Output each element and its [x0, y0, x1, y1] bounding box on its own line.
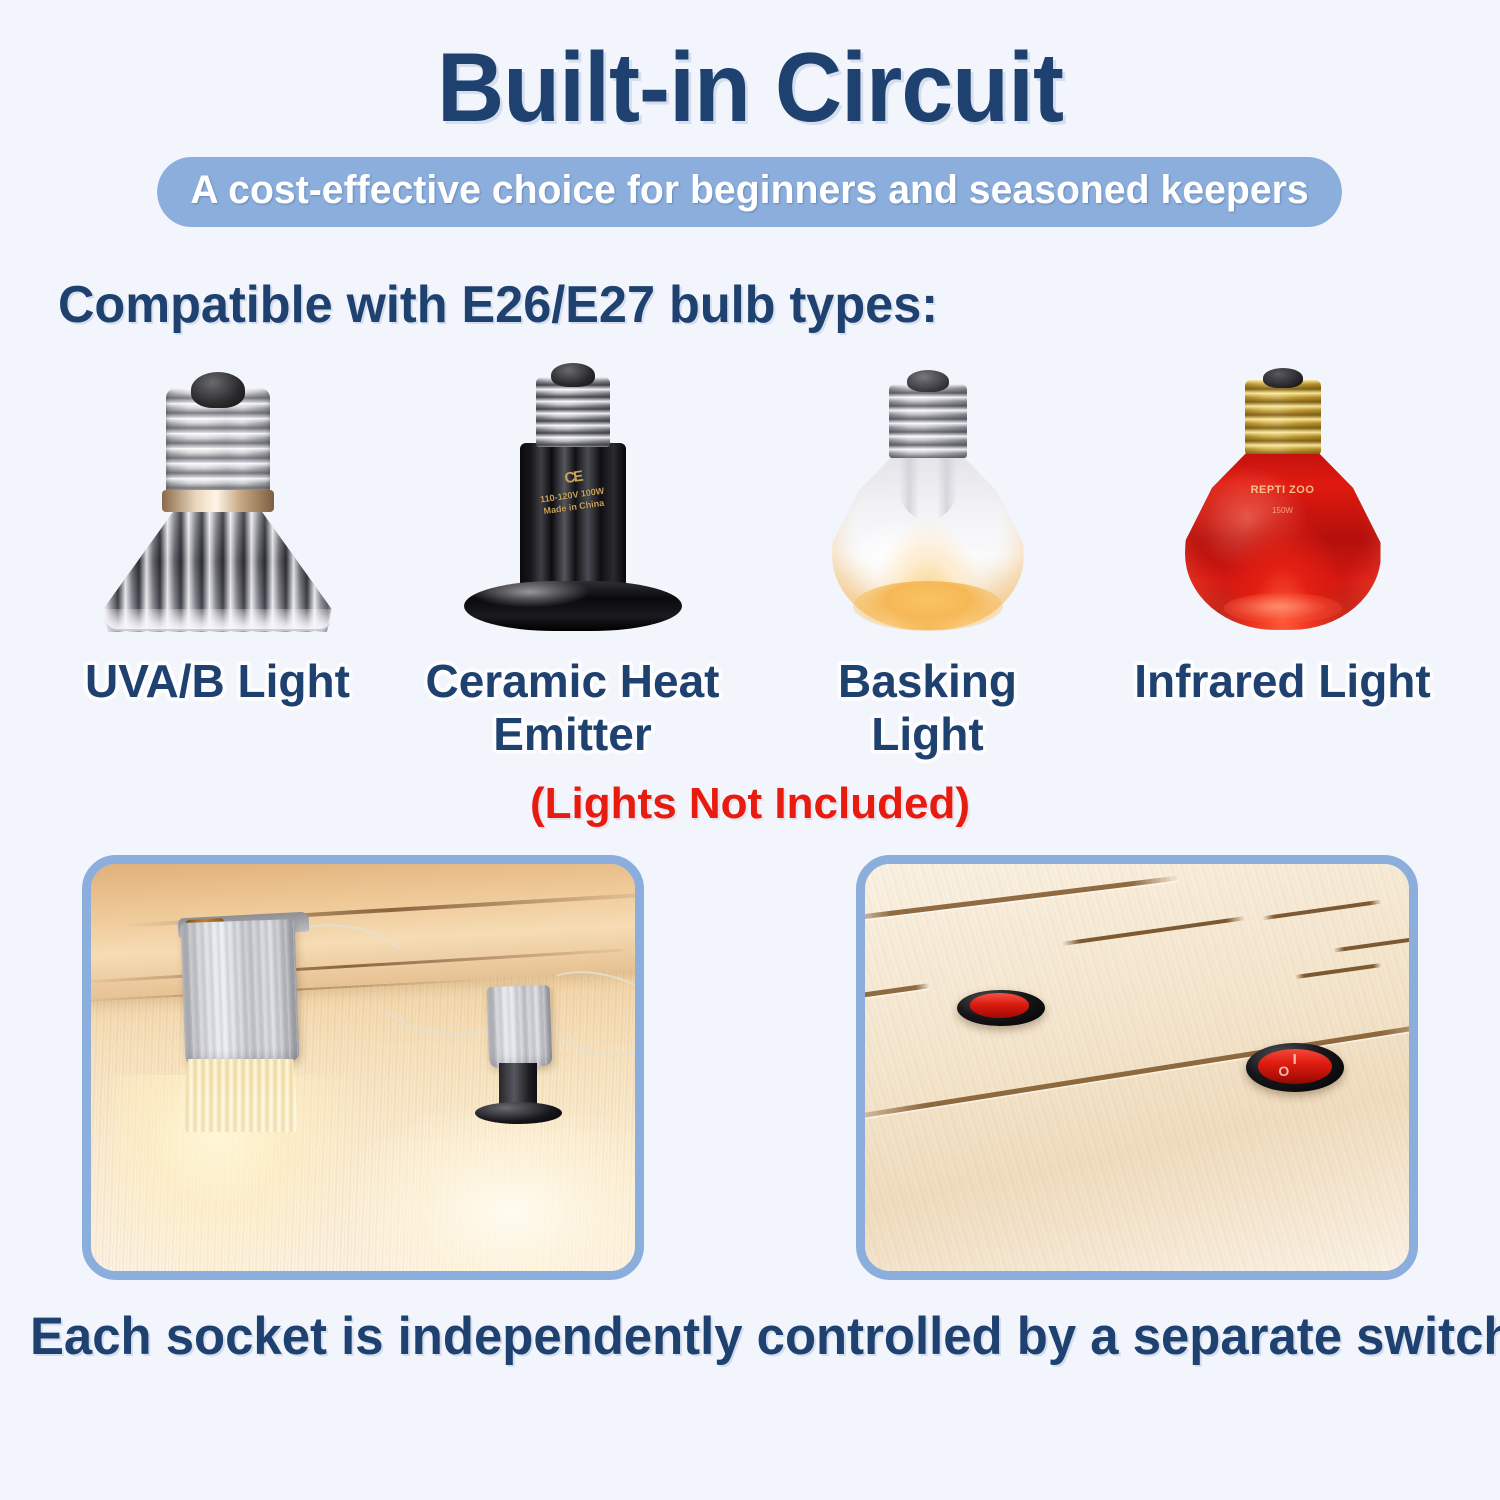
- lit-reflector-bulb: [183, 1059, 297, 1132]
- bulb-cell-ceramic: CE 110-120V 100W Made in China: [423, 351, 723, 631]
- lamp-socket: [487, 985, 552, 1069]
- floor-light-pool: [352, 1108, 635, 1271]
- bulb-label-basking: Basking Light: [778, 655, 1078, 761]
- e27-screw-base-icon: [889, 384, 967, 458]
- photo-content: I O: [865, 864, 1409, 1271]
- bulb-cell-infrared: REPTI ZOO 150W: [1133, 351, 1433, 631]
- lights-not-included-note: (Lights Not Included): [0, 779, 1500, 829]
- subtitle-text: A cost-effective choice for beginners an…: [158, 157, 1343, 227]
- bulb-contact-tip-icon: [1263, 368, 1303, 388]
- ceramic-emitter-base: [475, 1102, 562, 1124]
- infrared-wattage-text: 150W: [1272, 506, 1293, 515]
- subtitle-banner: A cost-effective choice for beginners an…: [0, 157, 1500, 227]
- bulb-contact-tip-icon: [191, 372, 245, 408]
- warm-glow-icon: [853, 581, 1003, 631]
- bulb-illustration-row: CE 110-120V 100W Made in China REPTI ZOO…: [0, 351, 1500, 631]
- infrared-hotspot-icon: [1224, 593, 1342, 623]
- infrared-brand-text: REPTI ZOO: [1251, 484, 1315, 496]
- switch-on-mark-icon: I: [1293, 1051, 1297, 1068]
- bulb-collar-icon: [162, 490, 274, 512]
- page-title: Built-in Circuit: [38, 0, 1463, 139]
- filament-icon: [899, 458, 957, 520]
- rocker-switch-button[interactable]: [970, 993, 1029, 1017]
- bulb-label-ceramic: Ceramic Heat Emitter: [423, 655, 723, 761]
- brass-e27-screw-base-icon: [1245, 380, 1321, 454]
- footer-caption: Each socket is independently controlled …: [30, 1306, 1470, 1367]
- rocker-switch-bezel[interactable]: [957, 990, 1044, 1027]
- switch-off-mark-icon: O: [1278, 1063, 1289, 1079]
- rocker-switch-button[interactable]: I O: [1258, 1049, 1332, 1084]
- ceramic-flange-base-icon: [464, 581, 682, 631]
- bulb-label-row: UVA/B Light Ceramic Heat Emitter Basking…: [0, 655, 1500, 761]
- rocker-switch-bezel[interactable]: I O: [1246, 1043, 1344, 1092]
- bulb-cell-basking: [778, 351, 1078, 631]
- photo-row: I O: [0, 855, 1500, 1280]
- lamp-socket: [181, 919, 300, 1065]
- photo-content: [91, 864, 635, 1271]
- bulb-cell-uva-b: [68, 351, 368, 631]
- bulb-contact-tip-icon: [551, 363, 595, 387]
- e27-screw-base-icon: [536, 377, 610, 447]
- ceramic-body-icon: [520, 443, 626, 599]
- ce-mark-icon: CE: [563, 468, 582, 487]
- basking-bulb-icon: [813, 366, 1043, 631]
- infrared-bulb-icon: REPTI ZOO 150W: [1168, 366, 1398, 631]
- rocker-switches-photo: I O: [856, 855, 1418, 1280]
- uva-b-reflector-bulb-icon: [103, 366, 333, 631]
- bulb-contact-tip-icon: [907, 370, 949, 392]
- compatibility-heading: Compatible with E26/E27 bulb types:: [58, 275, 1457, 335]
- bulb-label-uva-b: UVA/B Light: [68, 655, 368, 708]
- sockets-under-lid-photo: [82, 855, 644, 1280]
- bulb-label-infrared: Infrared Light: [1133, 655, 1433, 708]
- ceramic-heat-emitter-icon: CE 110-120V 100W Made in China: [458, 361, 688, 631]
- reflector-rim-icon: [104, 609, 332, 631]
